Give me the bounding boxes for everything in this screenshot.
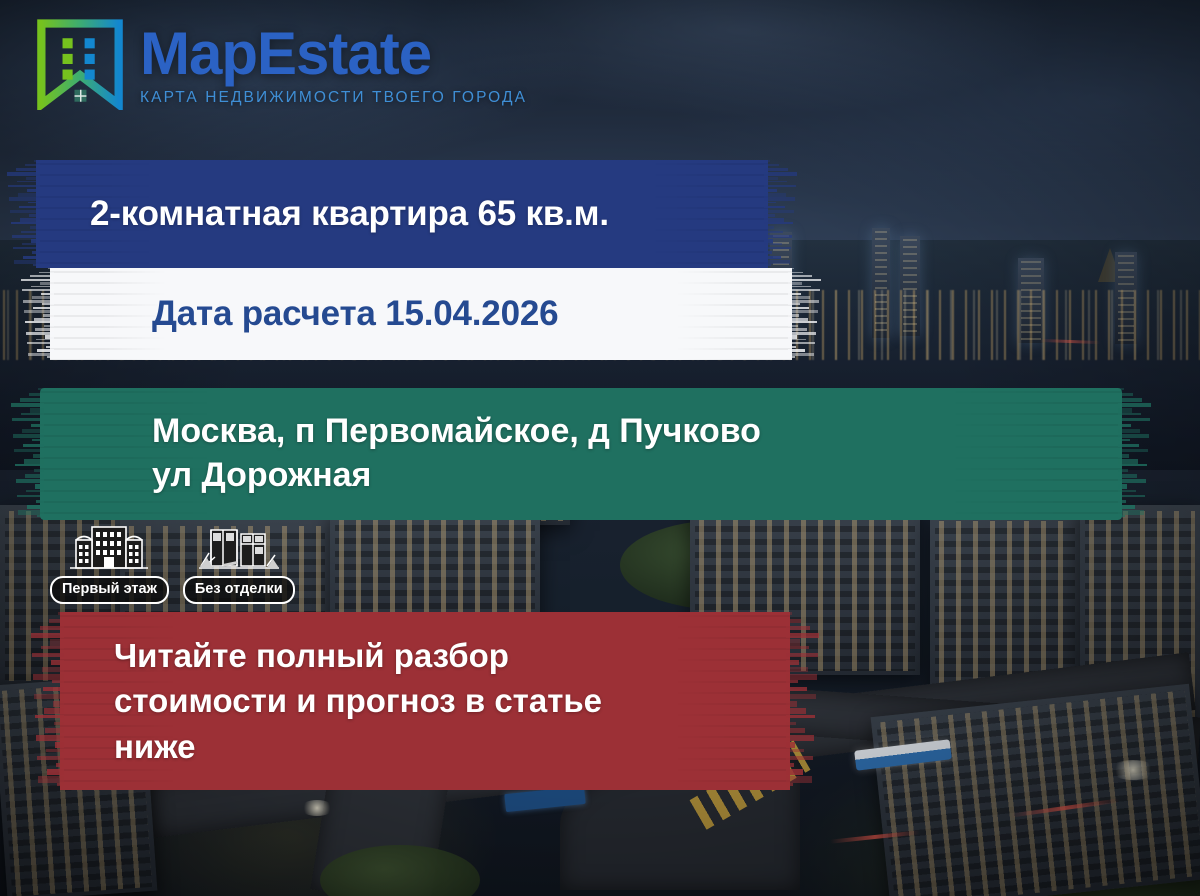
banner-address: Москва, п Первомайское, д Пучково ул Дор… xyxy=(40,388,1122,520)
feature-badges: Первый этаж xyxy=(50,524,295,604)
bookmark-building-icon xyxy=(34,18,126,110)
badge-first-floor[interactable]: Первый этаж xyxy=(50,524,169,604)
address-line-2: ул Дорожная xyxy=(152,456,371,494)
cta-line-1: Читайте полный разбор xyxy=(114,637,509,674)
banner-cta: Читайте полный разбор стоимости и прогно… xyxy=(60,612,790,790)
vehicle-headlight xyxy=(300,800,334,816)
calculation-date-text: Дата расчета 15.04.2026 xyxy=(50,294,558,334)
badge-first-floor-label: Первый этаж xyxy=(50,576,169,604)
poster-canvas: MapEstate КАРТА НЕДВИЖИМОСТИ ТВОЕГО ГОРО… xyxy=(0,0,1200,896)
address-line-1: Москва, п Первомайское, д Пучково xyxy=(152,412,761,450)
vehicle-headlight xyxy=(1110,760,1156,780)
building-facade-icon xyxy=(68,524,150,572)
cta-line-3: ниже xyxy=(114,728,196,765)
brand-tagline: КАРТА НЕДВИЖИМОСТИ ТВОЕГО ГОРОДА xyxy=(140,89,527,107)
address-text: Москва, п Первомайское, д Пучково ул Дор… xyxy=(40,410,761,497)
unfinished-interior-icon xyxy=(193,524,285,572)
cta-text: Читайте полный разбор стоимости и прогно… xyxy=(60,633,602,769)
badge-no-finishing-label: Без отделки xyxy=(183,576,295,604)
brand-wordmark: MapEstate КАРТА НЕДВИЖИМОСТИ ТВОЕГО ГОРО… xyxy=(140,21,527,107)
cta-line-2: стоимости и прогноз в статье xyxy=(114,682,602,719)
badge-no-finishing[interactable]: Без отделки xyxy=(183,524,295,604)
residential-block xyxy=(871,684,1200,896)
banner-calculation-date: Дата расчета 15.04.2026 xyxy=(50,268,792,360)
brand-logo[interactable]: MapEstate КАРТА НЕДВИЖИМОСТИ ТВОЕГО ГОРО… xyxy=(34,18,527,110)
brand-title: MapEstate xyxy=(140,25,527,82)
banner-apartment: 2-комнатная квартира 65 кв.м. xyxy=(36,160,768,268)
apartment-headline: 2-комнатная квартира 65 кв.м. xyxy=(36,194,609,234)
